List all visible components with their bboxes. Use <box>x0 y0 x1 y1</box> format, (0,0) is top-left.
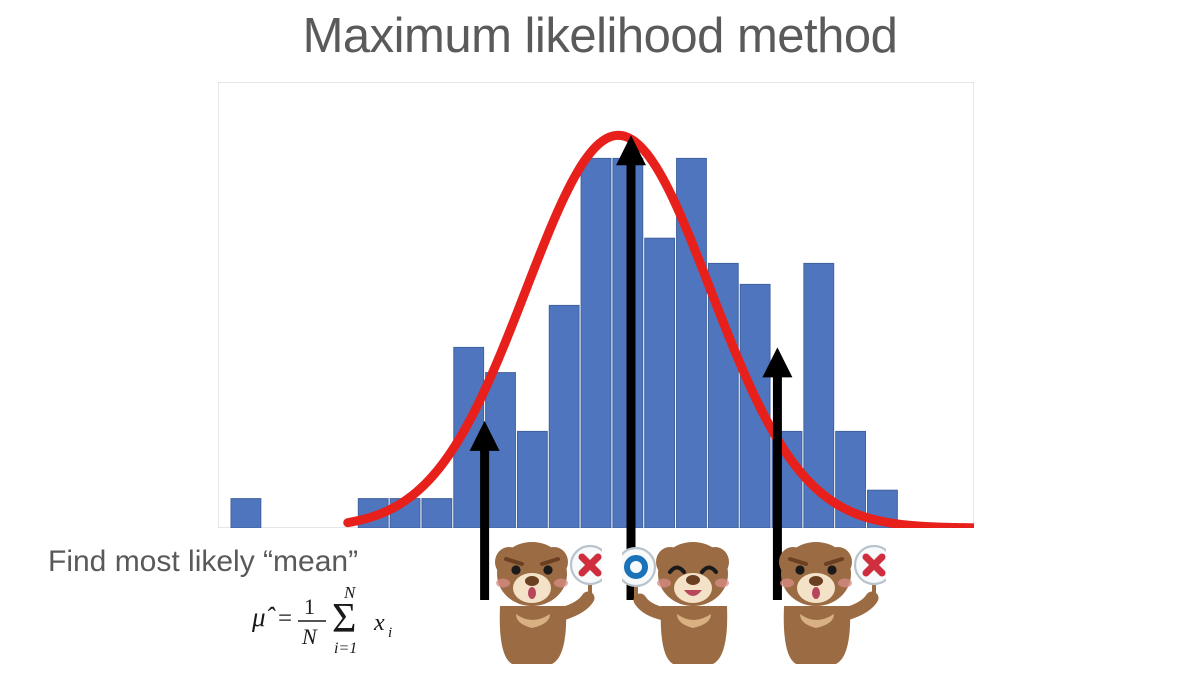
bear-eye-right <box>827 565 836 574</box>
bear-arm-left <box>640 600 664 614</box>
bear-nose <box>686 575 700 585</box>
bear-eye-left <box>511 565 520 574</box>
formula-equals: = <box>278 605 292 632</box>
histogram-bar <box>613 158 643 528</box>
caption-label: Find most likely “mean” <box>48 545 358 579</box>
bear-blush-left <box>657 579 671 588</box>
bear-left <box>478 528 602 668</box>
bear-blush-right <box>715 579 729 588</box>
histogram-bar <box>422 499 452 528</box>
bear-arm-right <box>562 598 588 614</box>
histogram-bar <box>581 158 611 528</box>
bear-middle <box>622 528 746 668</box>
bear-blush-right <box>838 579 852 588</box>
formula-sigma-lower: i=1 <box>334 640 357 657</box>
bear-eye-right <box>543 565 552 574</box>
formula-sigma-upper: N <box>343 583 357 602</box>
formula-term: x <box>373 610 385 636</box>
bear-eye-left <box>795 565 804 574</box>
bear-blush-right <box>554 579 568 588</box>
bear-nose <box>525 576 539 586</box>
histogram-bar <box>231 499 261 528</box>
formula-term-sub: i <box>388 625 392 641</box>
mean-formula: μ̂ = 1 N Σ N i=1 x i <box>246 580 436 660</box>
bear-right <box>762 528 886 668</box>
histogram-bar <box>549 305 579 528</box>
page-title: Maximum likelihood method <box>0 8 1200 64</box>
formula-denominator: N <box>301 624 318 649</box>
formula-sigma: Σ <box>332 596 356 642</box>
formula-numerator: 1 <box>304 594 315 619</box>
bear-mouth-open <box>812 587 820 599</box>
bear-mouth-open <box>528 587 536 599</box>
bear-blush-left <box>496 579 510 588</box>
bear-nose <box>809 576 823 586</box>
slide-canvas: Maximum likelihood method Find most like… <box>0 0 1200 675</box>
histogram-bar <box>645 238 675 528</box>
histogram-bar <box>517 431 547 528</box>
bear-blush-left <box>780 579 794 588</box>
histogram-bar <box>486 373 516 528</box>
formula-mu-hat: μ̂ <box>251 602 277 632</box>
bear-torso <box>661 606 727 664</box>
bear-arm-right <box>846 598 872 614</box>
histogram-chart <box>218 82 974 528</box>
